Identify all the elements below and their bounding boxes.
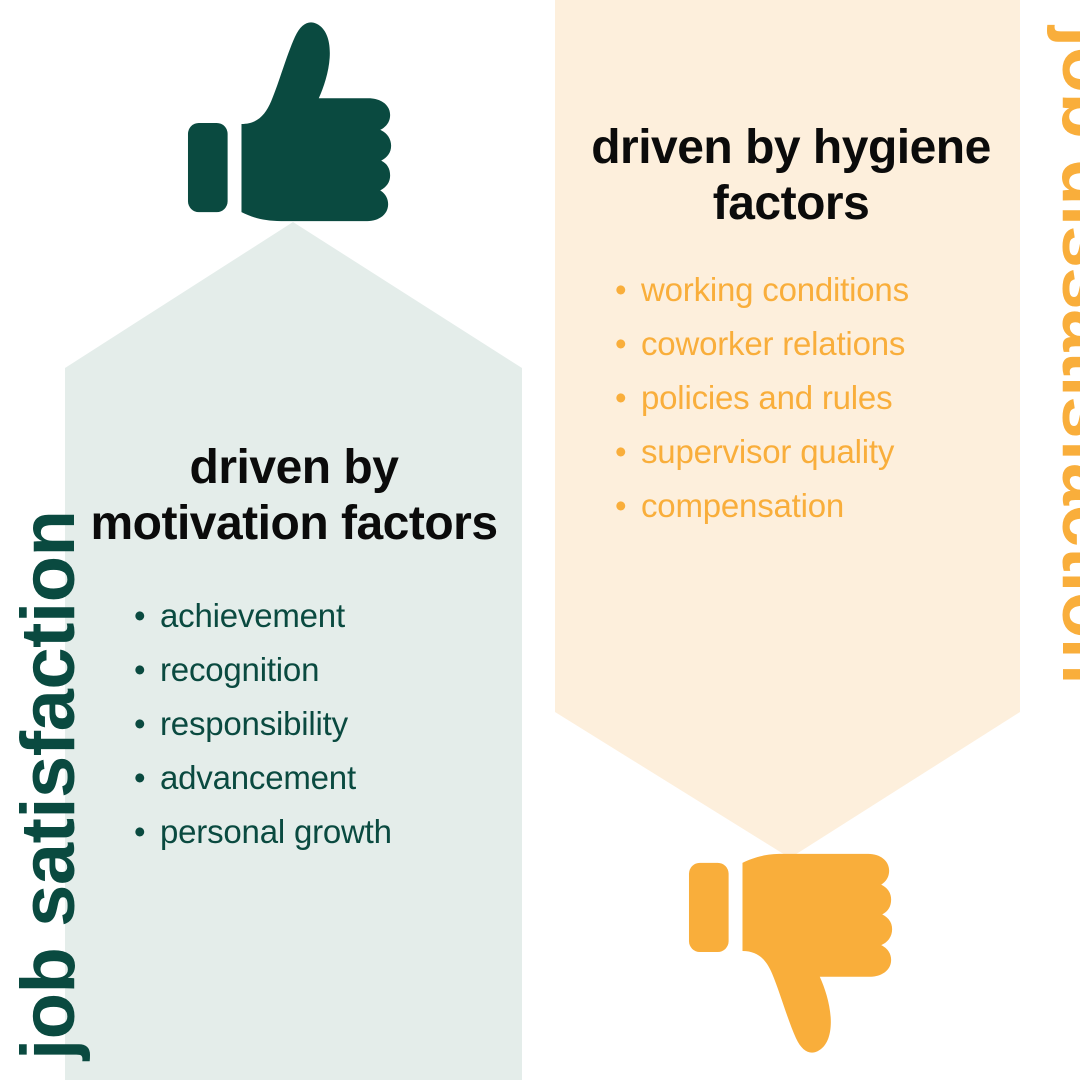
- bullet-dot-icon: •: [134, 707, 160, 740]
- bullet-dot-icon: •: [615, 489, 641, 522]
- thumbs-up-icon: [186, 10, 404, 232]
- list-item: • advancement: [134, 761, 522, 794]
- bullet-dot-icon: •: [134, 653, 160, 686]
- infographic-canvas: job satisfaction job dissatisfaction dri…: [0, 0, 1080, 1080]
- list-item-label: coworker relations: [641, 327, 1022, 360]
- job-dissatisfaction-side-label: job dissatisfaction: [1050, 26, 1080, 846]
- list-item: • supervisor quality: [615, 435, 1022, 468]
- list-item-label: working conditions: [641, 273, 1022, 306]
- bullet-dot-icon: •: [615, 381, 641, 414]
- job-satisfaction-side-label: job satisfaction: [11, 360, 87, 1060]
- list-item: • compensation: [615, 489, 1022, 522]
- list-item-label: advancement: [160, 761, 522, 794]
- bullet-dot-icon: •: [615, 435, 641, 468]
- dissatisfaction-bullet-list: • working conditions • coworker relation…: [560, 273, 1022, 522]
- list-item-label: compensation: [641, 489, 1022, 522]
- list-item: • working conditions: [615, 273, 1022, 306]
- list-item: • personal growth: [134, 815, 522, 848]
- list-item-label: supervisor quality: [641, 435, 1022, 468]
- list-item: • recognition: [134, 653, 522, 686]
- bullet-dot-icon: •: [615, 273, 641, 306]
- list-item-label: personal growth: [160, 815, 522, 848]
- list-item-label: achievement: [160, 599, 522, 632]
- list-item-label: responsibility: [160, 707, 522, 740]
- thumbs-down-glyph: [687, 843, 905, 1065]
- thumbs-up-glyph: [186, 10, 404, 232]
- dissatisfaction-heading: driven by hygiene factors: [560, 120, 1022, 231]
- list-item-label: policies and rules: [641, 381, 1022, 414]
- satisfaction-content-block: driven by motivation factors • achieveme…: [66, 440, 522, 869]
- bullet-dot-icon: •: [615, 327, 641, 360]
- thumbs-down-icon: [687, 843, 905, 1065]
- satisfaction-bullet-list: • achievement • recognition • responsibi…: [66, 599, 522, 848]
- satisfaction-heading: driven by motivation factors: [66, 440, 522, 551]
- dissatisfaction-content-block: driven by hygiene factors • working cond…: [560, 120, 1022, 543]
- list-item: • policies and rules: [615, 381, 1022, 414]
- list-item: • responsibility: [134, 707, 522, 740]
- list-item-label: recognition: [160, 653, 522, 686]
- list-item: • coworker relations: [615, 327, 1022, 360]
- bullet-dot-icon: •: [134, 761, 160, 794]
- bullet-dot-icon: •: [134, 815, 160, 848]
- bullet-dot-icon: •: [134, 599, 160, 632]
- list-item: • achievement: [134, 599, 522, 632]
